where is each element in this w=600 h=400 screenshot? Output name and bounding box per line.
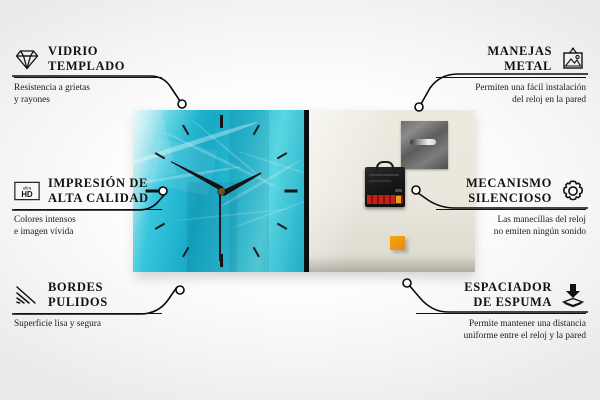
gear-icon: [560, 178, 586, 204]
feature-description: Resistencia a grietas y rayones: [14, 82, 164, 107]
svg-text:HD: HD: [21, 190, 33, 199]
feature-title: ESPACIADOR DE ESPUMA: [464, 280, 552, 310]
feature-bordes-pulidos[interactable]: BORDES PULIDOS Superficie lisa y segura: [14, 280, 164, 330]
feature-title: MANEJAS METAL: [487, 44, 552, 74]
connector-dot: [403, 279, 411, 287]
feature-rule: [436, 77, 586, 78]
clock-center-cap: [218, 188, 225, 195]
picture-hanger-icon: [560, 46, 586, 72]
connector-dot: [178, 100, 186, 108]
polished-edges-icon: [14, 282, 40, 308]
mechanism-detail: [369, 174, 399, 176]
feature-rule: [436, 209, 586, 210]
panel-bottom-shade: [309, 256, 475, 272]
feature-title: MECANISMO SILENCIOSO: [466, 176, 552, 206]
connector-dot: [176, 286, 184, 294]
feature-manejas-metal[interactable]: MANEJAS METAL Permiten una fácil instala…: [436, 44, 586, 106]
feature-vidrio-templado[interactable]: VIDRIO TEMPLADO Resistencia a grietas y …: [14, 44, 164, 106]
feature-description: Colores intensos e imagen vívida: [14, 214, 164, 239]
feature-description: Las manecillas del reloj no emiten ningú…: [436, 214, 586, 239]
feature-impresion-alta-calidad[interactable]: ultra HD IMPRESIÓN DE ALTA CALIDAD Color…: [14, 176, 164, 238]
mechanism-loop: [376, 161, 394, 171]
product-image: [133, 110, 475, 272]
clock-tick: [285, 190, 298, 193]
feature-rule: [14, 313, 162, 314]
clock-tick: [277, 152, 288, 159]
infographic-stage: VIDRIO TEMPLADO Resistencia a grietas y …: [0, 0, 600, 400]
hanger-slot: [410, 139, 436, 145]
feature-title: IMPRESIÓN DE ALTA CALIDAD: [48, 176, 149, 206]
clock-tick: [220, 115, 223, 128]
clock-tick: [277, 223, 288, 230]
diamond-icon: [14, 46, 40, 72]
metal-hanger-part: [401, 121, 448, 169]
mechanism-detail: [369, 180, 391, 182]
ultra-hd-icon: ultra HD: [14, 178, 40, 204]
foam-spacer-icon: [560, 282, 586, 308]
feature-title: VIDRIO TEMPLADO: [48, 44, 125, 74]
clock-tick: [182, 125, 189, 136]
feature-description: Superficie lisa y segura: [14, 318, 164, 330]
feature-description: Permite mantener una distancia uniforme …: [416, 318, 586, 343]
battery-part: [367, 195, 403, 204]
feature-espaciador-espuma[interactable]: ESPACIADOR DE ESPUMA Permite mantener un…: [416, 280, 586, 342]
foam-spacer-part: [390, 236, 405, 250]
feature-mecanismo-silencioso[interactable]: MECANISMO SILENCIOSO Las manecillas del …: [436, 176, 586, 238]
feature-rule: [14, 209, 162, 210]
clock-mechanism-part: [365, 167, 405, 207]
feature-description: Permiten una fácil instalación del reloj…: [436, 82, 586, 107]
feature-rule: [14, 77, 162, 78]
clock-second-hand: [219, 191, 221, 261]
feature-rule: [416, 313, 586, 314]
feature-title: BORDES PULIDOS: [48, 280, 108, 310]
mechanism-detail: [395, 189, 402, 192]
